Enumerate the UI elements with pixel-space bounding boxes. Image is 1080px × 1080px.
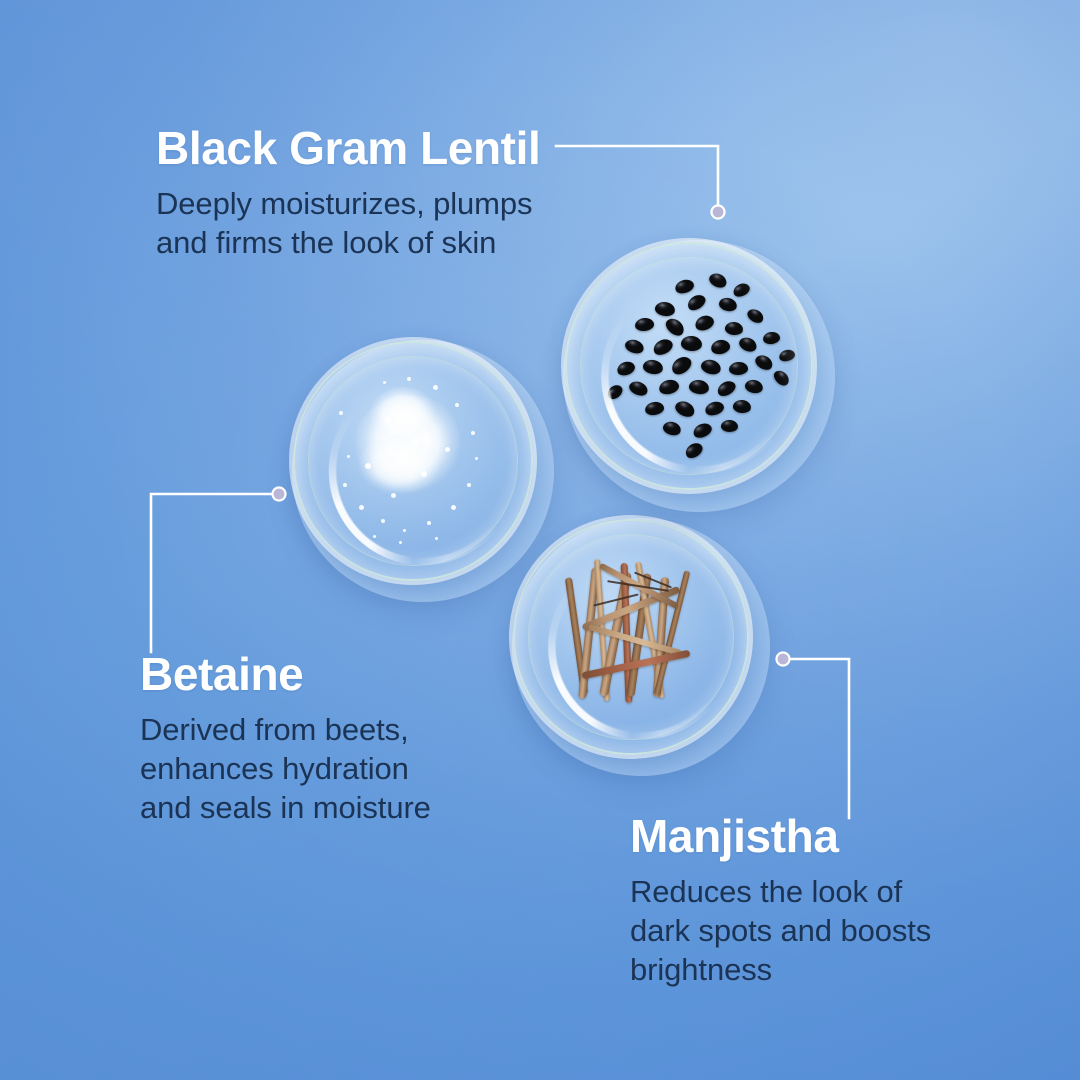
description-line: Reduces the look of	[630, 872, 931, 911]
dish-rim-highlight	[289, 337, 557, 605]
ingredient-description-black-gram-lentil: Deeply moisturizes, plumps and firms the…	[156, 184, 540, 262]
description-line: and seals in moisture	[140, 788, 431, 827]
callout-black-gram-lentil: Black Gram Lentil Deeply moisturizes, pl…	[156, 124, 540, 262]
petri-dish-betaine	[292, 340, 554, 602]
description-line: brightness	[630, 950, 931, 989]
description-line: Derived from beets,	[140, 710, 431, 749]
ingredient-infographic: Black Gram Lentil Deeply moisturizes, pl…	[0, 0, 1080, 1080]
description-line: and firms the look of skin	[156, 223, 540, 262]
callout-manjistha: Manjistha Reduces the look of dark spots…	[630, 812, 931, 989]
description-line: dark spots and boosts	[630, 911, 931, 950]
petri-dish-manjistha	[512, 518, 770, 776]
petri-dish-black-gram-lentil	[563, 240, 835, 512]
description-line: Deeply moisturizes, plumps	[156, 184, 540, 223]
ingredient-title-black-gram-lentil: Black Gram Lentil	[156, 124, 540, 172]
description-line: enhances hydration	[140, 749, 431, 788]
ingredient-description-manjistha: Reduces the look of dark spots and boost…	[630, 872, 931, 989]
dish-rim-highlight	[560, 237, 838, 515]
ingredient-title-manjistha: Manjistha	[630, 812, 931, 860]
ingredient-title-betaine: Betaine	[140, 650, 431, 698]
callout-betaine: Betaine Derived from beets, enhances hyd…	[140, 650, 431, 827]
dish-rim-highlight	[509, 515, 773, 779]
ingredient-description-betaine: Derived from beets, enhances hydration a…	[140, 710, 431, 827]
